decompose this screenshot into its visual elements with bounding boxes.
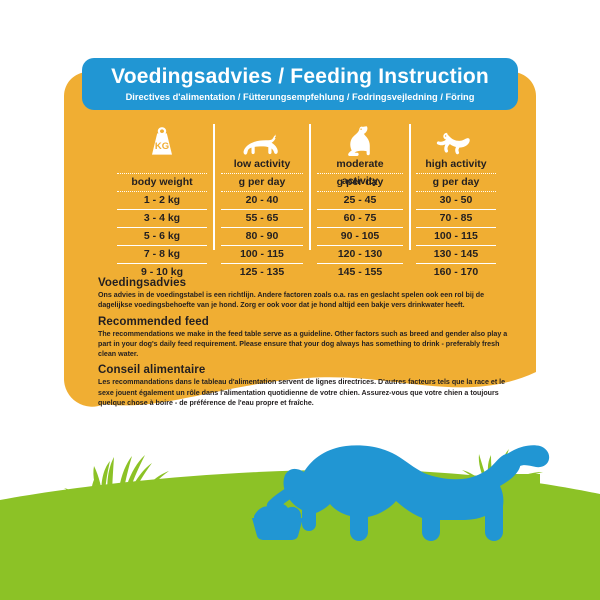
table-cell: 60 - 75 (317, 210, 403, 228)
column-header-1: low activity (221, 156, 304, 174)
table-cell: 80 - 90 (221, 228, 304, 246)
notes-section: Voedingsadvies Ons advies in de voedings… (98, 277, 518, 413)
table-cell: 55 - 65 (221, 210, 304, 228)
table-cell: 25 - 45 (317, 192, 403, 210)
page-subtitle: Directives d'alimentation / Fütterungsem… (126, 92, 475, 102)
column-header-0 (117, 156, 206, 174)
note-title-nl: Voedingsadvies (98, 277, 518, 289)
column-header-2: moderate activity (317, 156, 403, 174)
table-column-high-activity: high activity g per day 30 - 50 70 - 85 … (410, 122, 502, 281)
table-cell: 3 - 4 kg (117, 210, 206, 228)
note-body-nl: Ons advies in de voedingstabel is een ri… (98, 290, 518, 311)
table-column-moderate-activity: moderate activity g per day 25 - 45 60 -… (310, 122, 410, 281)
note-body-en: The recommendations we make in the feed … (98, 329, 518, 360)
table-cell: 100 - 115 (221, 246, 304, 264)
column-subheader-1: g per day (221, 174, 304, 192)
dog-lying-icon (242, 122, 282, 156)
kg-weight-icon: KG (149, 122, 175, 156)
dog-leaping-icon (436, 122, 476, 156)
header-band: Voedingsadvies / Feeding Instruction Dir… (82, 58, 518, 110)
feeding-table: KG body weight 1 - 2 kg 3 - 4 kg 5 - 6 k… (110, 122, 502, 281)
table-cell: 100 - 115 (416, 228, 495, 246)
column-header-3: high activity (416, 156, 495, 174)
page-title: Voedingsadvies / Feeding Instruction (111, 66, 489, 88)
note-body-fr: Les recommandations dans le tableau d'al… (98, 377, 518, 408)
table-cell: 90 - 105 (317, 228, 403, 246)
feeding-instruction-panel: Voedingsadvies / Feeding Instruction Dir… (0, 0, 600, 600)
table-cell: 20 - 40 (221, 192, 304, 210)
table-cell: 30 - 50 (416, 192, 495, 210)
table-column-low-activity: low activity g per day 20 - 40 55 - 65 8… (214, 122, 310, 281)
table-cell: 7 - 8 kg (117, 246, 206, 264)
note-title-en: Recommended feed (98, 316, 518, 328)
svg-text:KG: KG (155, 141, 169, 152)
table-cell: 130 - 145 (416, 246, 495, 264)
note-title-fr: Conseil alimentaire (98, 364, 518, 376)
dog-sitting-icon (345, 122, 375, 156)
column-subheader-2: g per day (317, 174, 403, 192)
table-cell: 70 - 85 (416, 210, 495, 228)
column-subheader-3: g per day (416, 174, 495, 192)
scenery-illustration (0, 420, 600, 600)
table-column-body-weight: KG body weight 1 - 2 kg 3 - 4 kg 5 - 6 k… (110, 122, 214, 281)
table-cell: 120 - 130 (317, 246, 403, 264)
table-cell: 1 - 2 kg (117, 192, 206, 210)
table-cell: 5 - 6 kg (117, 228, 206, 246)
column-subheader-0: body weight (117, 174, 206, 192)
